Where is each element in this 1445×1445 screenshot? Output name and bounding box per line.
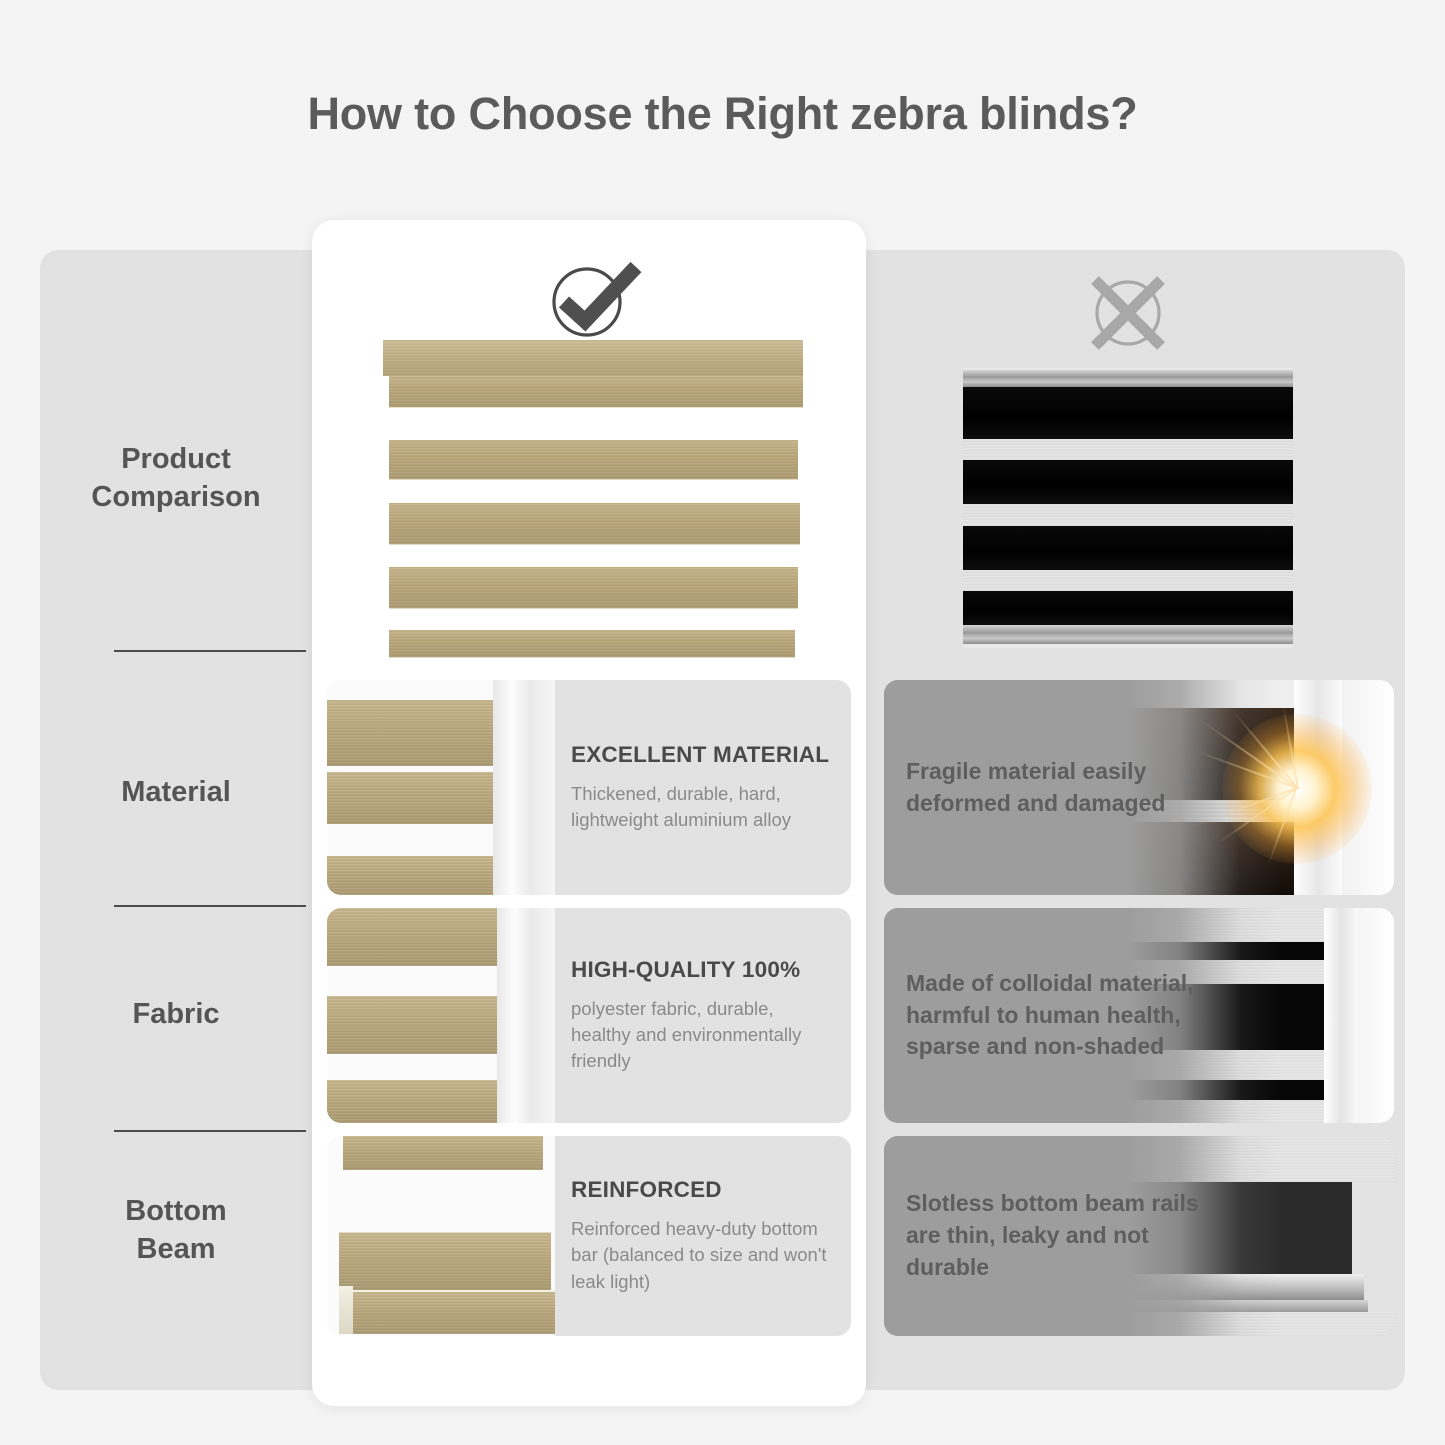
feature-title: EXCELLENT MATERIAL: [571, 742, 837, 768]
hero-image-bad-blind: [963, 368, 1293, 648]
negative-row-fabric: Made of colloidal material, harmful to h…: [884, 908, 1394, 1123]
blind-dark-band: [963, 387, 1293, 439]
feature-title: REINFORCED: [571, 1177, 837, 1203]
cross-circle-icon: [1082, 272, 1174, 354]
feature-body: Reinforced heavy-duty bottom bar (balanc…: [571, 1216, 837, 1295]
page-title: How to Choose the Right zebra blinds?: [0, 88, 1445, 140]
row-label-bottom-beam: Bottom Beam: [40, 1192, 312, 1269]
negative-row-bottom-beam: Slotless bottom beam rails are thin, lea…: [884, 1136, 1394, 1336]
row-label-line2: Comparison: [40, 478, 312, 516]
row-label-line1: Product: [40, 440, 312, 478]
negative-text-material: Fragile material easily deformed and dam…: [906, 680, 1206, 895]
blind-headrail: [383, 340, 803, 376]
blind-bottom-bar: [389, 630, 795, 658]
blind-headrail: [963, 370, 1293, 387]
blind-slat: [389, 376, 803, 408]
feature-row-material: EXCELLENT MATERIAL Thickened, durable, h…: [327, 680, 851, 895]
feature-row-bottom-beam: REINFORCED Reinforced heavy-duty bottom …: [327, 1136, 851, 1336]
feature-body: polyester fabric, durable, healthy and e…: [571, 996, 837, 1075]
feature-photo-bottom-beam: [327, 1136, 555, 1336]
row-divider-1: [114, 650, 306, 652]
blind-slat: [389, 567, 798, 609]
feature-photo-material: [327, 680, 555, 895]
row-divider-3: [114, 1130, 306, 1132]
feature-text-bottom-beam: REINFORCED Reinforced heavy-duty bottom …: [571, 1136, 837, 1336]
blind-mesh-band: [963, 570, 1293, 591]
blind-slat: [389, 440, 798, 480]
negative-row-material: Fragile material easily deformed and dam…: [884, 680, 1394, 895]
blind-dark-band: [963, 526, 1293, 570]
row-label-line1: Fabric: [40, 995, 312, 1033]
row-label-line2: Beam: [40, 1230, 312, 1268]
blind-dark-band: [963, 591, 1293, 625]
row-label-line1: Material: [40, 773, 312, 811]
feature-body: Thickened, durable, hard, lightweight al…: [571, 781, 837, 834]
blind-mesh-band: [963, 504, 1293, 526]
blind-dark-band: [963, 460, 1293, 504]
feature-title: HIGH-QUALITY 100%: [571, 957, 837, 983]
row-label-fabric: Fabric: [40, 995, 312, 1033]
row-label-material: Material: [40, 773, 312, 811]
row-label-column: Product Comparison Material Fabric Botto…: [40, 250, 312, 1390]
feature-row-fabric: HIGH-QUALITY 100% polyester fabric, dura…: [327, 908, 851, 1123]
row-divider-2: [114, 905, 306, 907]
feature-text-fabric: HIGH-QUALITY 100% polyester fabric, dura…: [571, 908, 837, 1123]
hero-image-good-blind: [383, 340, 803, 670]
blind-bottom-rail: [963, 625, 1293, 644]
feature-text-material: EXCELLENT MATERIAL Thickened, durable, h…: [571, 680, 837, 895]
negative-text-bottom-beam: Slotless bottom beam rails are thin, lea…: [906, 1136, 1206, 1336]
blind-mesh-band: [963, 439, 1293, 460]
row-label-product-comparison: Product Comparison: [40, 440, 312, 517]
negative-text-fabric: Made of colloidal material, harmful to h…: [906, 908, 1206, 1123]
infographic-page: How to Choose the Right zebra blinds? Pr…: [0, 0, 1445, 1445]
row-label-line1: Bottom: [40, 1192, 312, 1230]
check-circle-icon: [540, 255, 650, 345]
blind-slat: [389, 503, 800, 545]
feature-photo-fabric: [327, 908, 555, 1123]
